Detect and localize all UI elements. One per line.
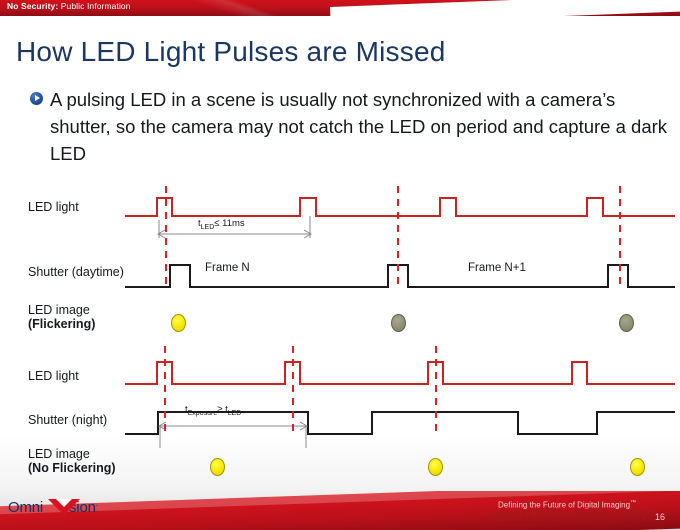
led-result-daytime-2	[391, 314, 406, 332]
led-result-daytime-1	[171, 314, 186, 332]
page-number: 16	[655, 512, 665, 522]
site-watermark: www.eltronics.com	[488, 505, 652, 527]
led-result-night-3	[630, 458, 645, 476]
bullet-block: A pulsing LED in a scene is usually not …	[30, 86, 675, 167]
slide-canvas: No Security: Public Information How LED …	[0, 0, 680, 530]
omnivision-v-icon	[47, 497, 81, 516]
security-value: Public Information	[61, 1, 131, 11]
shutter-trace-daytime	[125, 265, 675, 287]
led-result-daytime-3	[619, 314, 634, 332]
led-result-night-1	[210, 458, 225, 476]
timing-diagram: LED light Shutter (daytime) LED image (F…	[0, 186, 680, 491]
circle-arrow-bullet-icon	[30, 92, 43, 105]
led-result-night-2	[428, 458, 443, 476]
shutter-trace-night	[125, 412, 675, 434]
led-light-trace-daytime	[125, 198, 675, 216]
bullet-text: A pulsing LED in a scene is usually not …	[50, 86, 675, 167]
security-prefix: No Security:	[7, 1, 58, 11]
logo-text-left: Omni	[8, 499, 43, 516]
logo-tm: .	[96, 499, 98, 508]
waveform-svg	[0, 186, 680, 491]
led-light-trace-night	[125, 362, 675, 384]
security-classification: No Security: Public Information	[7, 1, 131, 11]
page-title: How LED Light Pulses are Missed	[16, 36, 446, 68]
